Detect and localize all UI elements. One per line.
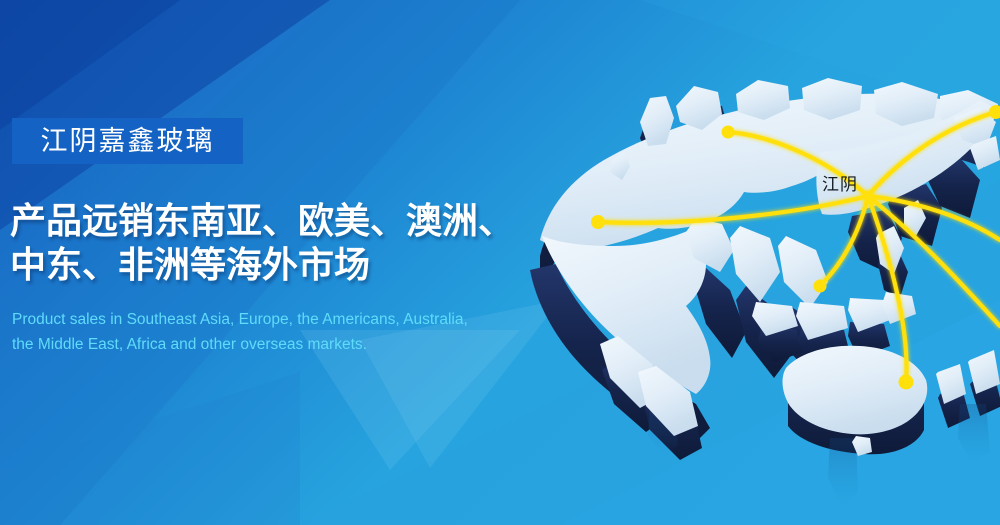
hub-label: 江阴 [822, 170, 858, 195]
promo-banner: 江阴 江阴嘉鑫玻璃 产品远销东南亚、欧美、澳洲、 中东、非洲等海外市场 Prod… [0, 0, 1000, 525]
map-landmass [540, 78, 1000, 456]
subheadline-line-2: the Middle East, Africa and other overse… [12, 332, 557, 357]
company-badge-label: 江阴嘉鑫玻璃 [41, 128, 215, 155]
endpoint-northern-europe [722, 126, 735, 139]
headline-line-1: 产品远销东南亚、欧美、澳洲、 [10, 200, 550, 244]
endpoint-southeast-asia [814, 280, 827, 293]
world-map [500, 40, 1000, 470]
subheadline: Product sales in Southeast Asia, Europe,… [12, 307, 557, 357]
subheadline-line-1: Product sales in Southeast Asia, Europe,… [12, 307, 557, 332]
headline: 产品远销东南亚、欧美、澳洲、 中东、非洲等海外市场 [10, 200, 550, 288]
endpoint-west-africa [591, 215, 605, 229]
headline-line-2: 中东、非洲等海外市场 [10, 244, 550, 288]
company-badge: 江阴嘉鑫玻璃 [12, 118, 243, 164]
endpoint-australia [899, 375, 914, 390]
banner-content: 江阴嘉鑫玻璃 产品远销东南亚、欧美、澳洲、 中东、非洲等海外市场 Product… [0, 0, 560, 525]
hub-node [863, 191, 873, 201]
